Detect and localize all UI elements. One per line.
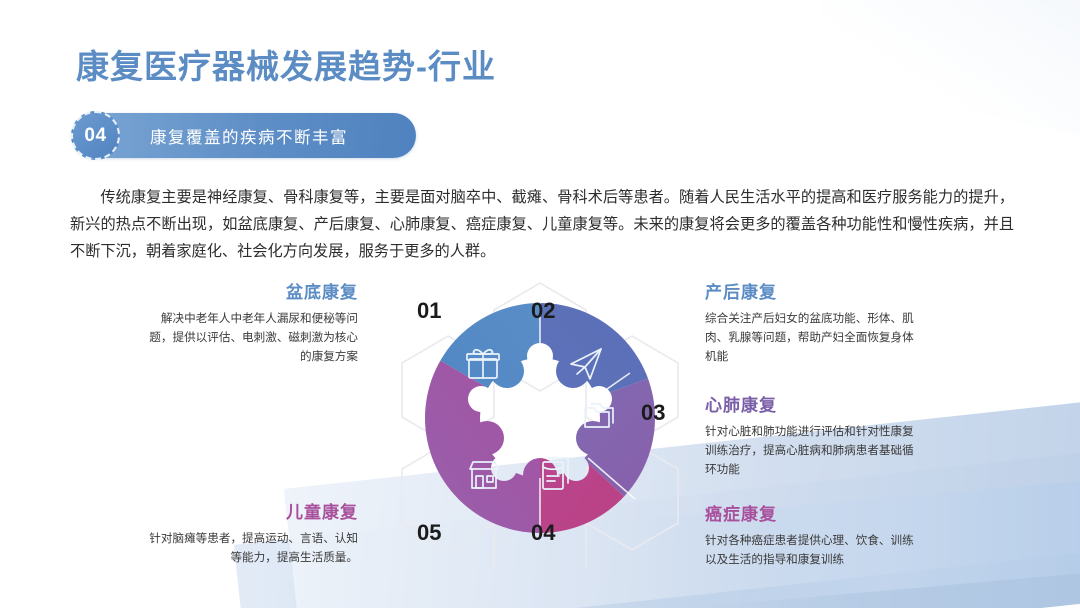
puzzle-donut-diagram: 01 02 03 04 05 [383, 268, 697, 568]
info-body-cancer: 针对各种癌症患者提供心理、饮食、训练以及生活的指导和康复训练 [705, 531, 920, 569]
info-heading-children: 儿童康复 [143, 498, 358, 523]
section-badge: 04 康复覆盖的疾病不断丰富 [72, 113, 416, 158]
info-block-postpartum: 产后康复 综合关注产后妇女的盆底功能、形体、肌肉、乳腺等问题，帮助产妇全面恢复身… [705, 278, 920, 366]
info-heading-pelvic: 盆底康复 [143, 278, 358, 303]
info-block-pelvic: 盆底康复 解决中老年人中老年人漏尿和便秘等问题，提供以评估、电刺激、磁刺激为核心… [143, 278, 358, 366]
info-heading-cancer: 癌症康复 [705, 500, 920, 525]
segment-number-04: 04 [531, 520, 556, 545]
background-ribbon-top [806, 0, 1080, 139]
segment-number-02: 02 [531, 298, 555, 323]
page-title: 康复医疗器械发展趋势-行业 [76, 40, 496, 88]
info-block-cardiopulmonary: 心肺康复 针对心脏和肺功能进行评估和针对性康复训练治疗，提高心脏病和肺病患者基础… [705, 391, 920, 479]
body-paragraph: 传统康复主要是神经康复、骨科康复等，主要是面对脑卒中、截瘫、骨科术后等患者。随着… [70, 184, 1014, 265]
info-block-cancer: 癌症康复 针对各种癌症患者提供心理、饮食、训练以及生活的指导和康复训练 [705, 500, 920, 569]
info-body-pelvic: 解决中老年人中老年人漏尿和便秘等问题，提供以评估、电刺激、磁刺激为核心的康复方案 [143, 309, 358, 366]
segment-number-01: 01 [417, 298, 441, 323]
info-body-cardiopulmonary: 针对心脏和肺功能进行评估和针对性康复训练治疗，提高心脏病和肺病患者基础循环功能 [705, 422, 920, 479]
segment-number-03: 03 [641, 400, 665, 425]
segment-number-05: 05 [417, 520, 441, 545]
info-heading-cardiopulmonary: 心肺康复 [705, 391, 920, 416]
slide-root: 康复医疗器械发展趋势-行业 04 康复覆盖的疾病不断丰富 传统康复主要是神经康复… [0, 0, 1080, 608]
section-number: 04 [71, 111, 120, 160]
info-body-postpartum: 综合关注产后妇女的盆底功能、形体、肌肉、乳腺等问题，帮助产妇全面恢复身体机能 [705, 309, 920, 366]
section-label: 康复覆盖的疾病不断丰富 [150, 113, 348, 158]
info-heading-postpartum: 产后康复 [705, 278, 920, 303]
info-body-children: 针对脑瘫等患者，提高运动、言语、认知等能力，提高生活质量。 [143, 529, 358, 567]
info-block-children: 儿童康复 针对脑瘫等患者，提高运动、言语、认知等能力，提高生活质量。 [143, 498, 358, 567]
